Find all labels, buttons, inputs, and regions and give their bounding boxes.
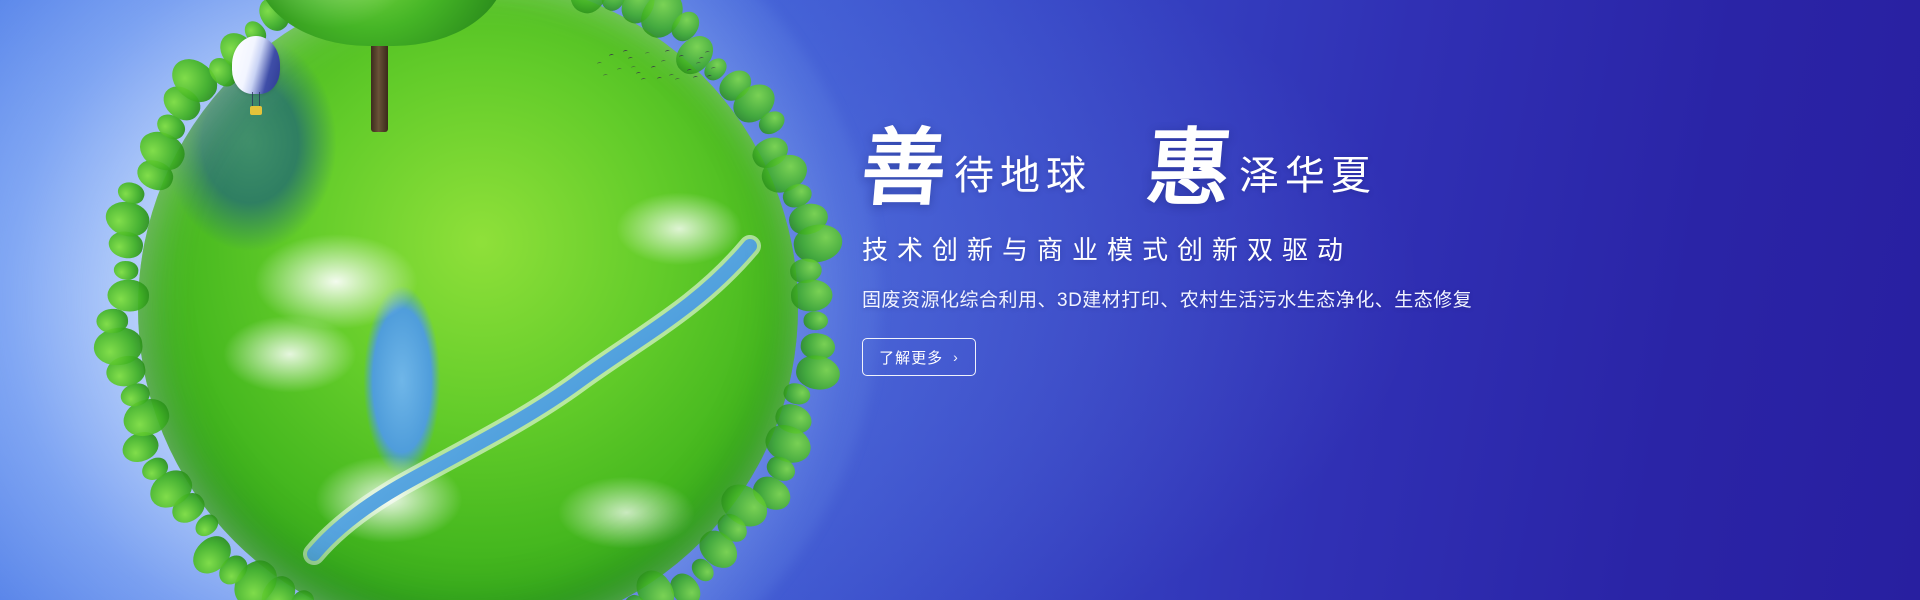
- hero-banner: 善 待地球 惠 泽华夏 技术创新与商业模式创新双驱动 固废资源化综合利用、3D建…: [0, 0, 1920, 600]
- bird-flock-icon: [595, 48, 715, 88]
- hero-tree-icon: [256, 0, 506, 124]
- hero-description: 固废资源化综合利用、3D建材打印、农村生活污水生态净化、生态修复: [862, 285, 1762, 312]
- balloon-envelope: [232, 36, 280, 94]
- headline: 善 待地球 惠 泽华夏: [862, 132, 1762, 204]
- balloon-basket: [250, 106, 262, 115]
- learn-more-button[interactable]: 了解更多 ›: [862, 338, 976, 376]
- headline-big-char-1: 善: [859, 132, 949, 204]
- headline-small-text-1: 待地球: [946, 156, 1092, 204]
- headline-phrase-2: 惠 泽华夏: [1147, 132, 1377, 204]
- hero-subtitle: 技术创新与商业模式创新双驱动: [862, 230, 1762, 267]
- tree-canopy: [256, 0, 506, 46]
- headline-small-text-2: 泽华夏: [1231, 156, 1377, 204]
- learn-more-label: 了解更多: [879, 347, 943, 368]
- balloon-rope: [259, 92, 260, 107]
- balloon-rope: [252, 92, 253, 107]
- chevron-right-icon: ›: [953, 349, 959, 365]
- hot-air-balloon-icon: [232, 36, 280, 122]
- hero-copy: 善 待地球 惠 泽华夏 技术创新与商业模式创新双驱动 固废资源化综合利用、3D建…: [862, 132, 1762, 376]
- headline-phrase-1: 善 待地球: [862, 132, 1092, 204]
- headline-big-char-2: 惠: [1144, 132, 1234, 204]
